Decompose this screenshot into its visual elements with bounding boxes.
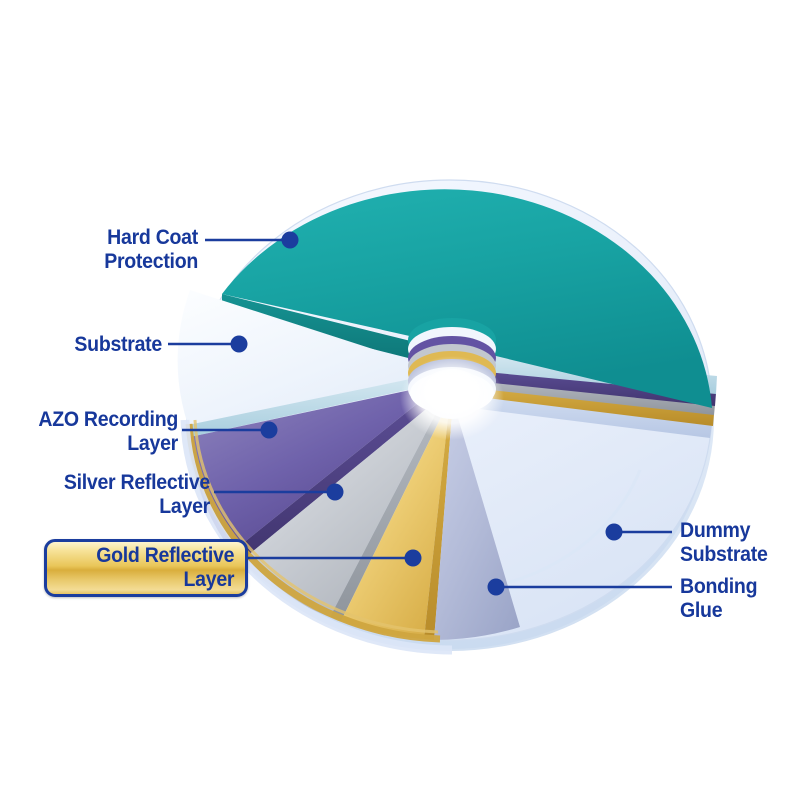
label-gold-reflective-layer-highlight-box: Gold Reflective Layer xyxy=(44,539,248,597)
diagram-canvas: Hard Coat Protection Substrate AZO Recor… xyxy=(0,0,800,800)
leader-dot-gold-reflective xyxy=(405,550,422,567)
label-hard-coat-protection: Hard Coat Protection xyxy=(0,226,198,274)
leader-dot-substrate xyxy=(231,336,248,353)
leader-dot-dummy-substrate xyxy=(606,524,623,541)
leader-dot-silver-reflective xyxy=(327,484,344,501)
disc-center-hub xyxy=(400,318,504,440)
label-dummy-substrate: Dummy Substrate xyxy=(680,519,800,567)
hub-glow xyxy=(400,356,504,440)
label-azo-recording-layer: AZO Recording Layer xyxy=(0,408,178,456)
optical-disc-cutaway-illustration xyxy=(0,0,800,800)
label-gold-reflective-layer: Gold Reflective Layer xyxy=(96,544,245,592)
leader-dot-azo-recording-layer xyxy=(261,422,278,439)
leader-dot-hard-coat-protection xyxy=(282,232,299,249)
label-bonding-glue: Bonding Glue xyxy=(680,575,800,623)
label-silver-reflective-layer: Silver Reflective Layer xyxy=(0,471,210,519)
label-substrate: Substrate xyxy=(0,333,162,357)
leader-dot-bonding-glue xyxy=(488,579,505,596)
